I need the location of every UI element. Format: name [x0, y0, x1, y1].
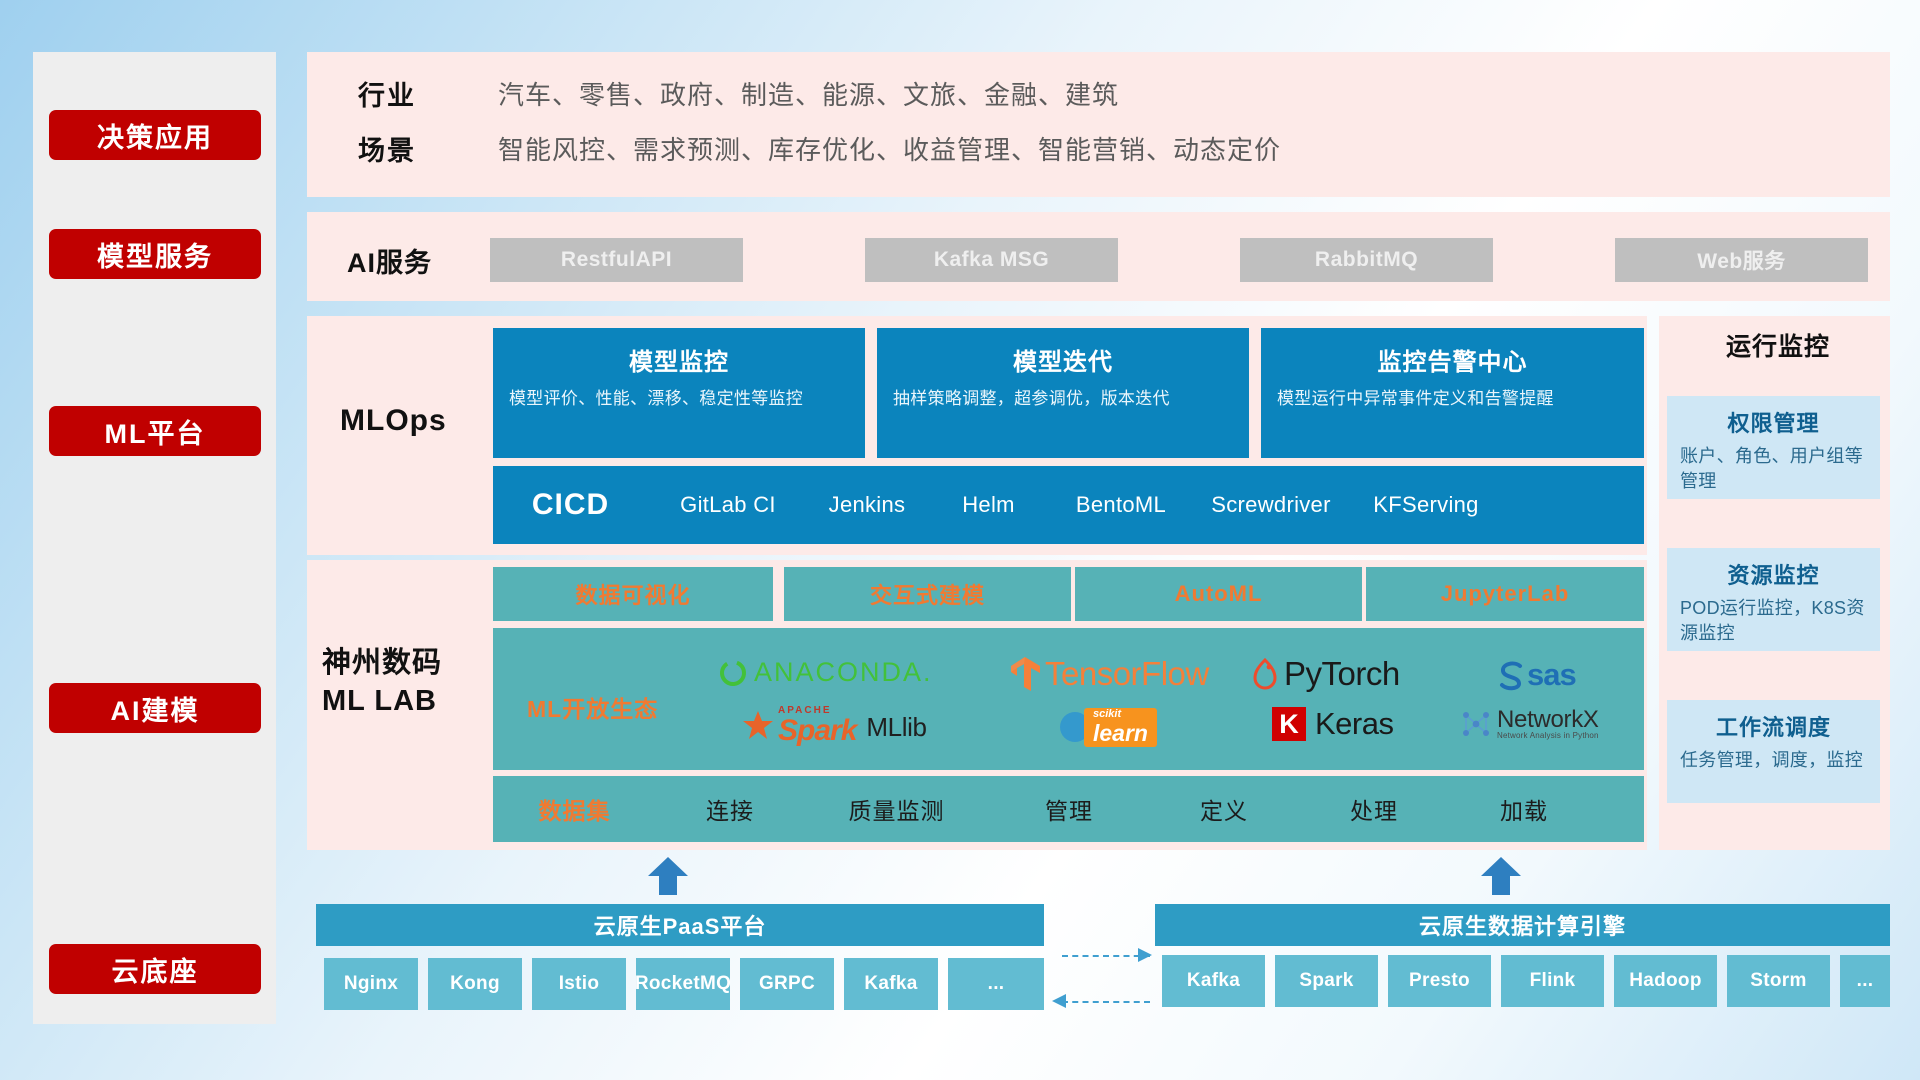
mlops-card-model-iteration[interactable]: 模型迭代 抽样策略调整，超参调优，版本迭代	[877, 328, 1249, 458]
ml-ecosystem-label: ML开放生态	[527, 690, 658, 724]
service-chip-web-service[interactable]: Web服务	[1615, 238, 1868, 282]
compute-tile-more[interactable]: ...	[1840, 955, 1890, 1007]
monitor-card-body: 任务管理，调度，监控	[1667, 746, 1880, 785]
compute-tile-storm[interactable]: Storm	[1727, 955, 1830, 1007]
cloud-connector-bottom	[1062, 1001, 1150, 1003]
apps-row-industry: 行业 汽车、零售、政府、制造、能源、文旅、金融、建筑	[358, 74, 1119, 113]
mlops-card-title: 模型监控	[509, 342, 849, 377]
runtime-monitor-title: 运行监控	[1726, 327, 1830, 363]
scikit-label: scikit	[1093, 709, 1148, 721]
compute-tile-label: Kafka	[1187, 971, 1240, 992]
paas-tile-rocketmq[interactable]: RocketMQ	[636, 958, 730, 1010]
networkx-tagline: Network Analysis in Python	[1497, 732, 1599, 740]
compute-tile-label: Hadoop	[1629, 971, 1702, 992]
networkx-logo: NetworkX Network Analysis in Python	[1459, 707, 1599, 741]
mllab-label-line1: 神州数码	[322, 644, 442, 682]
layer-tag-label: AI建模	[111, 689, 200, 728]
paas-bar-label: 云原生PaaS平台	[594, 909, 767, 941]
paas-tile-more[interactable]: ...	[948, 958, 1044, 1010]
tensorflow-icon	[1008, 655, 1042, 693]
apps-row-scenario-text: 智能风控、需求预测、库存优化、收益管理、智能营销、动态定价	[498, 130, 1281, 167]
apps-row-industry-text: 汽车、零售、政府、制造、能源、文旅、金融、建筑	[498, 75, 1119, 112]
keras-logo: K Keras	[1272, 706, 1393, 742]
sas-logo: sas	[1496, 657, 1576, 693]
compute-tile-kafka[interactable]: Kafka	[1162, 955, 1265, 1007]
mllab-label-line2: ML LAB	[322, 682, 442, 720]
anaconda-icon	[718, 658, 748, 688]
compute-tile-label: Storm	[1750, 971, 1806, 992]
sas-wordmark: sas	[1527, 657, 1576, 693]
paas-tile-label: Nginx	[344, 974, 398, 995]
dataset-item-loading[interactable]: 加载	[1449, 792, 1599, 826]
layer-tag-ml-platform[interactable]: ML平台	[49, 406, 261, 456]
mllab-tool-label: 交互式建模	[870, 578, 985, 610]
cicd-item-bentoml[interactable]: BentoML	[1051, 492, 1191, 518]
compute-bar: 云原生数据计算引擎	[1155, 904, 1890, 946]
mlops-card-model-monitoring[interactable]: 模型监控 模型评价、性能、漂移、稳定性等监控	[493, 328, 865, 458]
dataset-item-definition[interactable]: 定义	[1149, 792, 1299, 826]
layer-tag-label: ML平台	[105, 412, 206, 451]
paas-bar: 云原生PaaS平台	[316, 904, 1044, 946]
compute-tile-label: Flink	[1530, 971, 1576, 992]
monitor-card-head: 权限管理	[1667, 396, 1880, 442]
cicd-bar: CICD GitLab CI Jenkins Helm BentoML Scre…	[493, 466, 1644, 544]
service-chip-label: Web服务	[1697, 245, 1785, 275]
ml-ecosystem-band	[493, 628, 1644, 770]
layer-tag-ai-modeling[interactable]: AI建模	[49, 683, 261, 733]
networkx-wordmark: NetworkX	[1497, 707, 1599, 732]
mllab-label: 神州数码 ML LAB	[322, 644, 442, 721]
cicd-item-helm[interactable]: Helm	[926, 492, 1051, 518]
compute-tile-label: Spark	[1299, 971, 1353, 992]
cicd-item-jenkins[interactable]: Jenkins	[808, 492, 926, 518]
service-chip-label: RestfulAPI	[561, 248, 672, 272]
spark-wordmark: Spark	[778, 714, 856, 747]
paas-tile-kafka[interactable]: Kafka	[844, 958, 938, 1010]
monitor-card-body: POD运行监控，K8S资源监控	[1667, 594, 1880, 658]
paas-tile-grpc[interactable]: GRPC	[740, 958, 834, 1010]
dataset-band: 数据集 连接 质量监测 管理 定义 处理 加载	[493, 776, 1644, 842]
pytorch-icon	[1250, 657, 1280, 691]
layer-tag-label: 云底座	[112, 950, 199, 989]
cloud-connector-top-arrow-icon	[1138, 946, 1156, 964]
service-chip-rabbitmq[interactable]: RabbitMQ	[1240, 238, 1493, 282]
compute-up-arrow-icon	[1479, 857, 1523, 895]
service-chip-label: RabbitMQ	[1315, 248, 1418, 272]
mlops-card-desc: 模型运行中异常事件定义和告警提醒	[1277, 387, 1628, 411]
pytorch-wordmark: PyTorch	[1284, 655, 1400, 693]
layer-tag-cloud-foundation[interactable]: 云底座	[49, 944, 261, 994]
spark-icon	[740, 709, 776, 743]
anaconda-wordmark: ANACONDA.	[754, 657, 933, 688]
service-chip-restfulapi[interactable]: RestfulAPI	[490, 238, 743, 282]
cloud-connector-bottom-arrow-icon	[1050, 992, 1068, 1010]
layer-tag-model-service[interactable]: 模型服务	[49, 229, 261, 279]
dataset-item-processing[interactable]: 处理	[1299, 792, 1449, 826]
paas-up-arrow-icon	[646, 857, 690, 895]
dataset-label: 数据集	[493, 792, 656, 826]
mlops-card-desc: 抽样策略调整，超参调优，版本迭代	[893, 387, 1233, 411]
monitor-card-workflow[interactable]: 工作流调度 任务管理，调度，监控	[1667, 700, 1880, 803]
keras-badge-icon: K	[1272, 707, 1306, 741]
tensorflow-logo: TensorFlow	[1008, 655, 1209, 693]
sas-icon	[1496, 659, 1526, 691]
mllab-tool-label: AutoML	[1175, 581, 1263, 607]
compute-tile-hadoop[interactable]: Hadoop	[1614, 955, 1717, 1007]
compute-bar-label: 云原生数据计算引擎	[1419, 909, 1626, 941]
cloud-connector-top	[1062, 955, 1150, 957]
cicd-item-screwdriver[interactable]: Screwdriver	[1191, 492, 1351, 518]
cicd-item-kfserving[interactable]: KFServing	[1351, 492, 1501, 518]
dataset-item-management[interactable]: 管理	[989, 792, 1149, 826]
pytorch-logo: PyTorch	[1250, 655, 1400, 693]
mlops-card-title: 监控告警中心	[1277, 342, 1628, 377]
paas-tile-label: Kafka	[864, 974, 917, 995]
compute-tile-flink[interactable]: Flink	[1501, 955, 1604, 1007]
learn-wordmark: learn	[1093, 721, 1148, 745]
paas-tile-label: Kong	[450, 974, 500, 995]
paas-tile-label: GRPC	[759, 974, 815, 995]
mlops-card-desc: 模型评价、性能、漂移、稳定性等监控	[509, 387, 849, 411]
monitor-card-head: 工作流调度	[1667, 700, 1880, 746]
compute-tile-presto[interactable]: Presto	[1388, 955, 1491, 1007]
paas-tile-kong[interactable]: Kong	[428, 958, 522, 1010]
layer-tag-label: 决策应用	[97, 116, 213, 155]
monitor-card-body: 账户、角色、用户组等管理	[1667, 442, 1880, 506]
networkx-icon	[1459, 708, 1493, 740]
service-chip-label: Kafka MSG	[934, 248, 1049, 272]
mllab-tool-label: 数据可视化	[575, 578, 690, 610]
mlops-card-title: 模型迭代	[893, 342, 1233, 377]
monitor-card-head: 资源监控	[1667, 548, 1880, 594]
compute-tile-label: Presto	[1409, 971, 1470, 992]
mllab-tool-interactive-modeling[interactable]: 交互式建模	[784, 567, 1071, 621]
cicd-item-gitlab-ci[interactable]: GitLab CI	[648, 492, 808, 518]
monitor-card-permission[interactable]: 权限管理 账户、角色、用户组等管理	[1667, 396, 1880, 499]
layer-rail	[33, 52, 276, 1024]
layer-tag-decision-apps[interactable]: 决策应用	[49, 110, 261, 160]
layer-tag-label: 模型服务	[97, 235, 213, 274]
mlops-card-alert-center[interactable]: 监控告警中心 模型运行中异常事件定义和告警提醒	[1261, 328, 1644, 458]
paas-tile-label: RocketMQ	[635, 974, 731, 995]
mllab-tool-jupyterlab[interactable]: JupyterLab	[1366, 567, 1644, 621]
paas-tile-label: Istio	[559, 974, 600, 995]
apps-row-industry-label: 行业	[358, 74, 498, 113]
mlops-label: MLOps	[340, 404, 447, 438]
keras-wordmark: Keras	[1315, 706, 1393, 742]
paas-tile-istio[interactable]: Istio	[532, 958, 626, 1010]
paas-tile-label: ...	[988, 974, 1005, 995]
apps-row-scenario-label: 场景	[358, 129, 498, 168]
diagram-canvas: 决策应用 模型服务 ML平台 AI建模 云底座 行业 汽车、零售、政府、制造、能…	[0, 0, 1920, 1080]
compute-tile-label: ...	[1857, 971, 1874, 992]
scikit-learn-logo: scikit learn	[1058, 708, 1157, 747]
apps-row-scenario: 场景 智能风控、需求预测、库存优化、收益管理、智能营销、动态定价	[358, 129, 1281, 168]
cicd-title: CICD	[493, 488, 648, 522]
ai-service-label: AI服务	[347, 241, 432, 280]
tensorflow-wordmark: TensorFlow	[1045, 655, 1209, 693]
mllab-tool-data-visualization[interactable]: 数据可视化	[493, 567, 773, 621]
dataset-item-connect[interactable]: 连接	[656, 792, 804, 826]
spark-mllib-logo: APACHE Spark MLlib	[740, 706, 927, 746]
mllab-tool-automl[interactable]: AutoML	[1075, 567, 1362, 621]
dataset-item-quality-monitoring[interactable]: 质量监测	[804, 792, 989, 826]
mllib-wordmark: MLlib	[866, 712, 926, 746]
mllab-tool-label: JupyterLab	[1441, 581, 1570, 607]
paas-tile-nginx[interactable]: Nginx	[324, 958, 418, 1010]
service-chip-kafka-msg[interactable]: Kafka MSG	[865, 238, 1118, 282]
monitor-card-resource[interactable]: 资源监控 POD运行监控，K8S资源监控	[1667, 548, 1880, 651]
anaconda-logo: ANACONDA.	[718, 657, 933, 688]
compute-tile-spark[interactable]: Spark	[1275, 955, 1378, 1007]
